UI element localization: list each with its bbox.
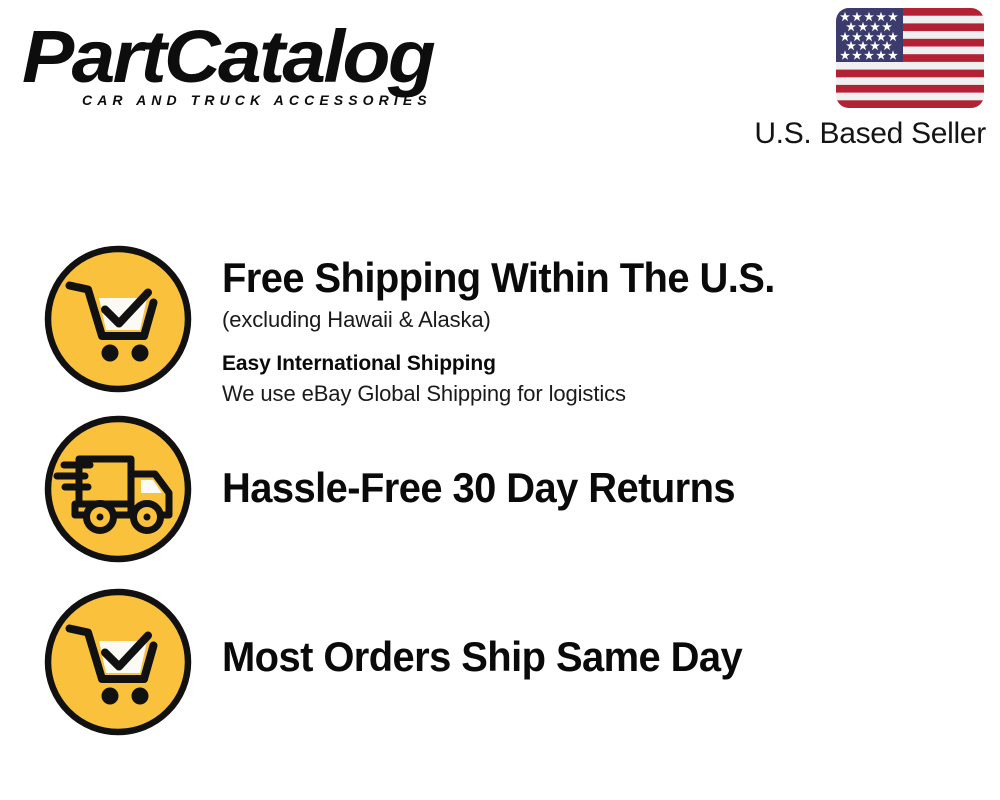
- feature-row: Most Orders Ship Same Day: [0, 587, 1000, 747]
- feature-subtext: We use eBay Global Shipping for logistic…: [222, 379, 992, 409]
- feature-list: Free Shipping Within The U.S. (excluding…: [0, 0, 1000, 800]
- shopping-cart-check-icon: [43, 244, 193, 394]
- feature-text-block: Hassle-Free 30 Day Returns: [222, 464, 992, 512]
- shopping-cart-check-icon: [43, 587, 193, 737]
- delivery-truck-icon: [43, 414, 193, 564]
- feature-text-block: Free Shipping Within The U.S. (excluding…: [222, 254, 992, 409]
- spacer: [222, 335, 992, 349]
- feature-headline: Hassle-Free 30 Day Returns: [222, 464, 954, 512]
- feature-row: Free Shipping Within The U.S. (excluding…: [0, 244, 1000, 404]
- feature-text-block: Most Orders Ship Same Day: [222, 633, 992, 681]
- feature-note: (excluding Hawaii & Alaska): [222, 305, 992, 335]
- feature-headline: Free Shipping Within The U.S.: [222, 254, 954, 302]
- feature-headline: Most Orders Ship Same Day: [222, 633, 954, 681]
- feature-row: Hassle-Free 30 Day Returns: [0, 414, 1000, 574]
- feature-subheading: Easy International Shipping: [222, 349, 992, 379]
